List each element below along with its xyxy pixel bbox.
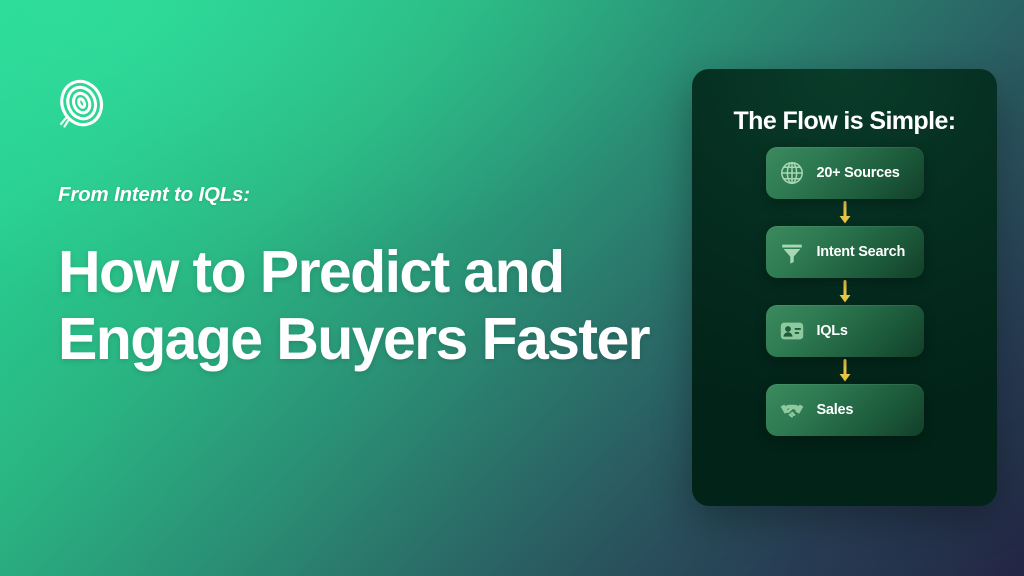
arrow-down-icon: [836, 357, 854, 384]
flow-step-label: IQLs: [817, 323, 848, 339]
handshake-icon: [779, 397, 805, 423]
contact-card-icon: [779, 318, 805, 344]
flow-card: The Flow is Simple: 20+ Sources: [692, 69, 997, 506]
hero-section: From Intent to IQLs: How to Predict and …: [0, 0, 690, 576]
page-title: How to Predict and Engage Buyers Faster: [58, 243, 678, 369]
flow-step-label: Intent Search: [817, 244, 906, 260]
hero-eyebrow: From Intent to IQLs:: [58, 183, 250, 207]
headline-line-2: Engage Buyers Faster: [58, 310, 678, 369]
spiral-rings-logo: [56, 78, 108, 130]
flow-steps-list: 20+ Sources Intent Search: [692, 147, 997, 436]
flow-step-intent-search[interactable]: Intent Search: [766, 226, 924, 278]
flow-step-sales[interactable]: Sales: [766, 384, 924, 436]
flow-step-label: 20+ Sources: [817, 165, 900, 181]
flow-step-label: Sales: [817, 402, 854, 418]
flow-card-title: The Flow is Simple:: [692, 107, 997, 136]
flow-step-iqls[interactable]: IQLs: [766, 305, 924, 357]
funnel-icon: [779, 239, 805, 265]
flow-step-sources[interactable]: 20+ Sources: [766, 147, 924, 199]
arrow-down-icon: [836, 278, 854, 305]
headline-line-1: How to Predict and: [58, 243, 678, 302]
globe-icon: [779, 160, 805, 186]
arrow-down-icon: [836, 199, 854, 226]
